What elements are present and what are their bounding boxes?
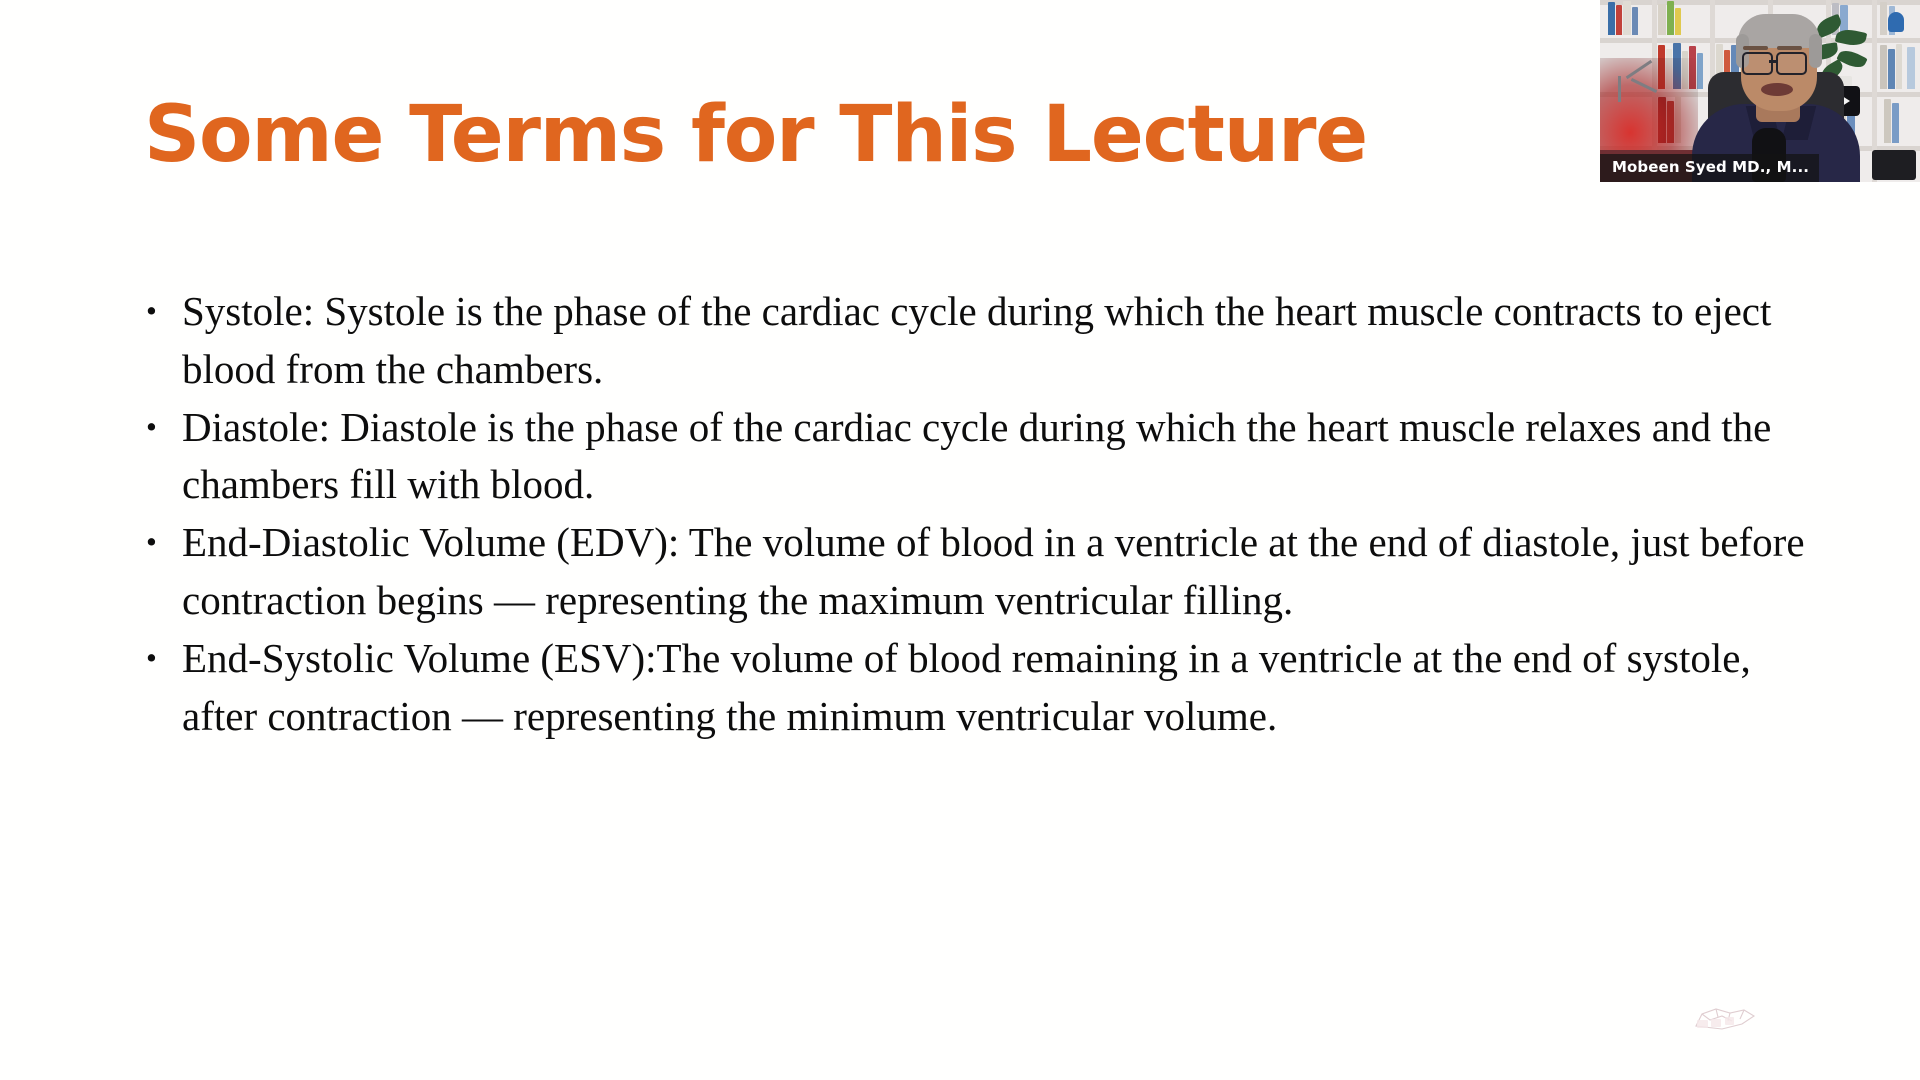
bullet-text: Systole: Systole is the phase of the car… [182, 283, 1818, 399]
book [1907, 47, 1915, 89]
glasses-icon [1769, 60, 1778, 63]
bullet-text: End-Systolic Volume (ESV):The volume of … [182, 630, 1818, 746]
list-item: • End-Diastolic Volume (EDV): The volume… [138, 514, 1818, 630]
figurine [1888, 12, 1904, 32]
lamp-stem [1618, 76, 1621, 102]
webcam-name-label: Mobeen Syed MD., M... [1600, 154, 1819, 182]
shelf-object [1872, 150, 1916, 180]
book [1623, 1, 1631, 35]
book [1616, 5, 1622, 35]
eyebrow [1777, 46, 1802, 50]
book [1880, 2, 1887, 35]
bullet-point-icon: • [146, 630, 157, 686]
book [1608, 2, 1615, 35]
presenter-hair [1738, 14, 1820, 48]
bullet-point-icon: • [146, 283, 157, 339]
presenter-hair [1809, 34, 1822, 68]
presentation-slide: Some Terms for This Lecture • Systole: S… [0, 0, 1920, 1080]
book [1675, 8, 1681, 35]
webcam-overlay[interactable]: Mobeen Syed MD., M... [1600, 0, 1920, 182]
page-title: Some Terms for This Lecture [144, 96, 1544, 174]
bullet-list: • Systole: Systole is the phase of the c… [138, 283, 1818, 745]
bullet-text: Diastole: Diastole is the phase of the c… [182, 399, 1818, 515]
list-item: • End-Systolic Volume (ESV):The volume o… [138, 630, 1818, 746]
book [1667, 1, 1674, 35]
presenter-mouth [1761, 83, 1793, 96]
watermark-logo [1692, 1000, 1758, 1038]
eyebrow [1743, 46, 1768, 50]
bullet-point-icon: • [146, 399, 157, 455]
list-item: • Systole: Systole is the phase of the c… [138, 283, 1818, 399]
book [1884, 99, 1891, 143]
book [1896, 44, 1902, 89]
glasses-icon [1742, 52, 1773, 75]
list-item: • Diastole: Diastole is the phase of the… [138, 399, 1818, 515]
book [1888, 49, 1895, 89]
book [1632, 7, 1638, 35]
bullet-point-icon: • [146, 514, 157, 570]
glasses-icon [1776, 52, 1807, 75]
book [1658, 4, 1666, 35]
bullet-text: End-Diastolic Volume (EDV): The volume o… [182, 514, 1818, 630]
book [1892, 103, 1899, 143]
book [1880, 45, 1887, 89]
